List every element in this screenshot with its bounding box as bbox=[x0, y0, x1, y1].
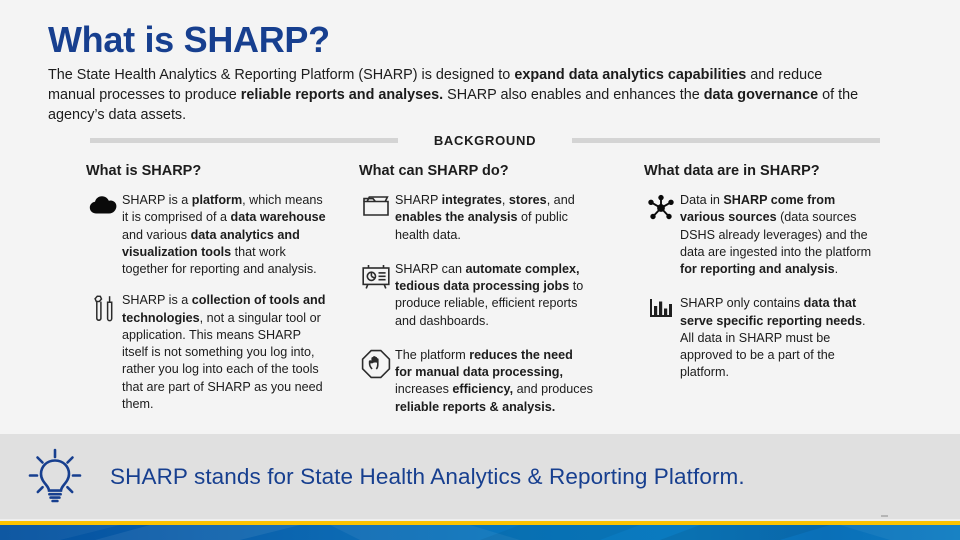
corner-tick-mark bbox=[881, 515, 888, 517]
divider-label: BACKGROUND bbox=[434, 133, 536, 148]
column-what-can-sharp-do: What can SHARP do? SHARP integrates, sto… bbox=[341, 163, 634, 433]
presentation-chart-icon bbox=[359, 261, 393, 293]
divider-rule-right bbox=[572, 138, 880, 143]
lightbulb-icon bbox=[0, 446, 110, 508]
column-heading: What data are in SHARP? bbox=[644, 163, 919, 179]
list-item-text: SHARP is a collection of tools and techn… bbox=[120, 292, 327, 413]
page-title: What is SHARP? bbox=[48, 20, 330, 60]
slide-root: What is SHARP? The State Health Analytic… bbox=[0, 0, 960, 540]
column-what-data-are-in-sharp: What data are in SHARP? bbox=[634, 163, 927, 433]
callout-banner: SHARP stands for State Health Analytics … bbox=[0, 434, 960, 520]
bar-chart-icon bbox=[644, 295, 678, 327]
list-item: The platform reduces the need for manual… bbox=[359, 347, 620, 416]
column-heading: What can SHARP do? bbox=[359, 163, 620, 179]
tools-icon bbox=[86, 292, 120, 324]
list-item: SHARP only contains data that serve spec… bbox=[644, 295, 919, 381]
list-item-text: SHARP can automate complex, tedious data… bbox=[393, 261, 593, 330]
network-nodes-icon bbox=[644, 192, 678, 224]
callout-text: SHARP stands for State Health Analytics … bbox=[110, 464, 745, 490]
list-item: SHARP can automate complex, tedious data… bbox=[359, 261, 620, 330]
list-item-text: The platform reduces the need for manual… bbox=[393, 347, 593, 416]
list-item: SHARP is a platform, which means it is c… bbox=[86, 192, 331, 278]
list-item-text: SHARP only contains data that serve spec… bbox=[678, 295, 880, 381]
list-item-text: SHARP is a platform, which means it is c… bbox=[120, 192, 327, 278]
column-heading: What is SHARP? bbox=[86, 163, 331, 179]
content-columns: What is SHARP? SHARP is a platform, whic… bbox=[48, 163, 928, 433]
list-item: Data in SHARP come from various sources … bbox=[644, 192, 919, 278]
list-item: SHARP integrates, stores, and enables th… bbox=[359, 192, 620, 244]
list-item-text: Data in SHARP come from various sources … bbox=[678, 192, 880, 278]
divider-rule-left bbox=[90, 138, 398, 143]
folder-icon bbox=[359, 192, 393, 224]
cloud-icon bbox=[86, 192, 120, 224]
footer-blue-band bbox=[0, 525, 960, 540]
list-item: SHARP is a collection of tools and techn… bbox=[86, 292, 331, 413]
section-divider: BACKGROUND bbox=[90, 133, 880, 148]
column-what-is-sharp: What is SHARP? SHARP is a platform, whic… bbox=[48, 163, 341, 433]
intro-paragraph: The State Health Analytics & Reporting P… bbox=[48, 66, 860, 126]
list-item-text: SHARP integrates, stores, and enables th… bbox=[393, 192, 593, 244]
stop-hand-icon bbox=[359, 347, 393, 379]
footer-facets bbox=[0, 525, 960, 540]
